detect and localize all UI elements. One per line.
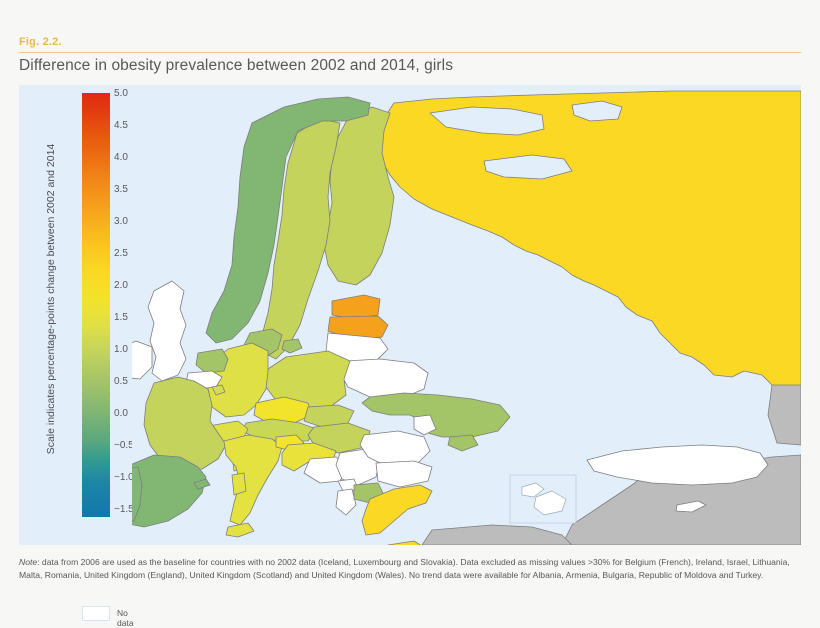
note-prefix: Note [19, 557, 37, 567]
region-ukraine [362, 393, 510, 437]
region-crete [388, 541, 422, 545]
region-russian-federation [378, 91, 801, 385]
colorbar-tick: 4.0 [114, 152, 128, 163]
legend-panel: Scale indicates percentage-points change… [19, 85, 132, 545]
region-united-kingdom [148, 281, 186, 381]
region-albania [336, 489, 356, 515]
page-title: Difference in obesity prevalence between… [19, 57, 453, 75]
region-sicily [226, 523, 254, 537]
colorbar-tick: −1.5 [114, 504, 134, 515]
region-outside-caucasus [768, 381, 801, 445]
colorbar-tick: 0.0 [114, 408, 128, 419]
colorbar-tick: −1.0 [114, 472, 134, 483]
region-crimea [448, 435, 478, 451]
region-ireland [132, 341, 152, 379]
colorbar-tick: 2.0 [114, 280, 128, 291]
no-data-label: No data [117, 608, 134, 628]
region-netherlands [196, 349, 228, 373]
colorbar-tick: 3.5 [114, 184, 128, 195]
colorbar-tick: 2.5 [114, 248, 128, 259]
colorbar-tick: 0.5 [114, 376, 128, 387]
colorbar-tick: 1.0 [114, 344, 128, 355]
colorbar-tick: 3.0 [114, 216, 128, 227]
figure-note: Note: data from 2006 are used as the bas… [19, 556, 809, 582]
region-turkey [587, 445, 768, 485]
colorbar-tick: 1.5 [114, 312, 128, 323]
europe-choropleth-map [132, 85, 801, 545]
no-data-swatch [82, 606, 110, 621]
region-estonia [332, 295, 380, 319]
region-belarus [340, 359, 428, 399]
colorbar-tick: 5.0 [114, 88, 128, 99]
region-outside-northafrica [422, 525, 572, 545]
map-panel [132, 85, 801, 545]
colorbar-axis-label: Scale indicates percentage-points change… [45, 104, 57, 494]
region-denmark-zealand [282, 339, 302, 353]
region-bulgaria [376, 461, 432, 487]
header-rule [19, 52, 801, 53]
region-spain [132, 455, 206, 527]
colorbar-gradient [82, 93, 110, 517]
colorbar-tick: 4.5 [114, 120, 128, 131]
region-malta-inset-main [534, 491, 566, 515]
region-sardinia [232, 473, 246, 495]
note-text: : data from 2006 are used as the baselin… [19, 557, 790, 580]
figure-page: Fig. 2.2. Difference in obesity prevalen… [0, 0, 820, 595]
figure-body: Scale indicates percentage-points change… [19, 85, 801, 545]
figure-number: Fig. 2.2. [19, 36, 62, 48]
colorbar-tick: −0.5 [114, 440, 134, 451]
